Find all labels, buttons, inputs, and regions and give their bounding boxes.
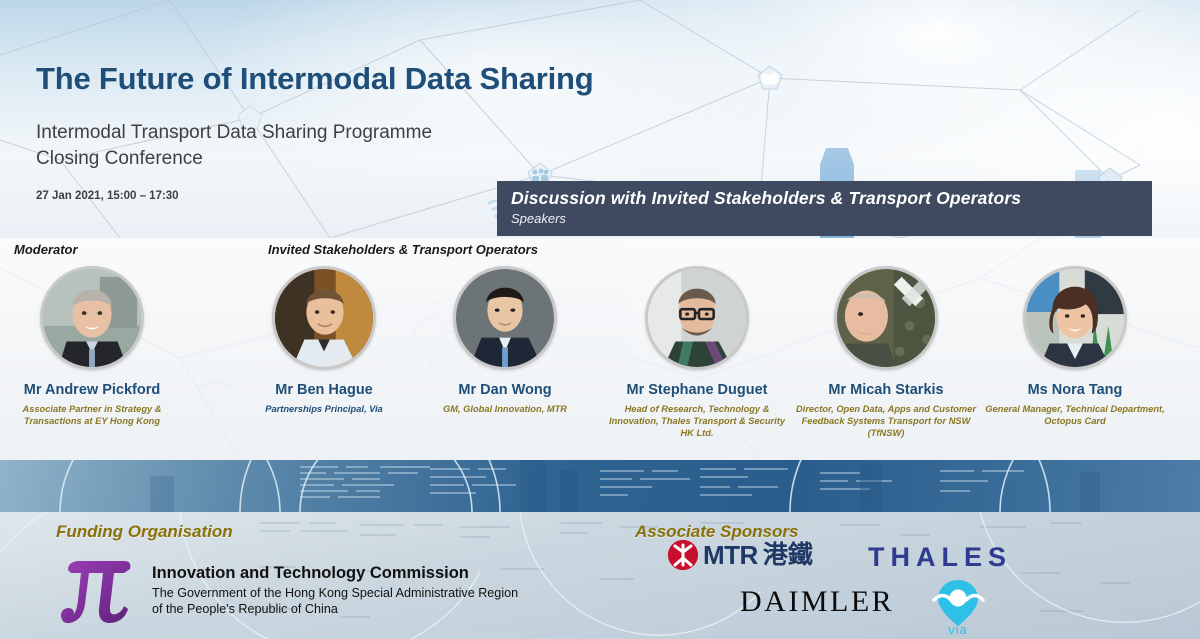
associate-sponsors-label: Associate Sponsors [635, 522, 798, 542]
speaker-card-ben-hague: Mr Ben Hague Partnerships Principal, Via [224, 266, 424, 415]
sponsors-section: Funding Organisation Associate Sponsors [0, 512, 1200, 639]
speaker-role: GM, Global Innovation, MTR [405, 403, 605, 415]
itc-pi-logo [58, 554, 136, 628]
daimler-wordmark: DAIMLER [740, 587, 894, 617]
speaker-name: Mr Stephane Duguet [597, 382, 797, 399]
itc-logo-block: Innovation and Technology Commission The… [58, 554, 518, 628]
category-label-moderator: Moderator [14, 242, 78, 257]
mtr-badge-icon [668, 540, 698, 570]
subtitle-line-2: Closing Conference [36, 146, 594, 172]
avatar [40, 266, 144, 370]
itc-text-block: Innovation and Technology Commission The… [152, 564, 518, 617]
avatar [453, 266, 557, 370]
presentation-slide: The Future of Intermodal Data Sharing In… [0, 0, 1200, 639]
speaker-card-nora-tang: Ms Nora Tang General Manager, Technical … [975, 266, 1175, 427]
subtitle-line-1: Intermodal Transport Data Sharing Progra… [36, 120, 594, 146]
speaker-name: Ms Nora Tang [975, 382, 1175, 399]
speaker-card-stephane-duguet: Mr Stephane Duguet Head of Research, Tec… [597, 266, 797, 439]
mtr-wordmark: MTR [703, 542, 758, 568]
speaker-card-andrew-pickford: Mr Andrew Pickford Associate Partner in … [0, 266, 192, 427]
speaker-name: Mr Ben Hague [224, 382, 424, 399]
arc-overlay [0, 460, 1200, 512]
portrait-stephane-duguet [648, 269, 746, 367]
mtr-chinese-name: 港鐵 [763, 543, 813, 568]
portrait-andrew-pickford [43, 269, 141, 367]
speaker-role: Partnerships Principal, Via [224, 403, 424, 415]
thales-logo: THALES [868, 544, 1012, 571]
section-banner: Discussion with Invited Stakeholders & T… [497, 181, 1152, 236]
itc-gov-line2: of the People's Republic of China [152, 601, 518, 617]
city-data-band [0, 460, 1200, 512]
speaker-role: General Manager, Technical Department, O… [975, 403, 1175, 428]
avatar [272, 266, 376, 370]
speaker-name: Mr Dan Wong [405, 382, 605, 399]
mtr-logo: MTR 港鐵 [668, 540, 813, 570]
portrait-dan-wong [456, 269, 554, 367]
speaker-role: Associate Partner in Strategy & Transact… [0, 403, 192, 428]
itc-gov-line1: The Government of the Hong Kong Special … [152, 585, 518, 601]
banner-title: Discussion with Invited Stakeholders & T… [511, 188, 1152, 209]
page-subtitle: Intermodal Transport Data Sharing Progra… [36, 120, 594, 172]
via-logo: via [930, 578, 986, 636]
daimler-logo: DAIMLER [740, 587, 894, 617]
portrait-nora-tang [1026, 269, 1124, 367]
speaker-card-dan-wong: Mr Dan Wong GM, Global Innovation, MTR [405, 266, 605, 415]
portrait-ben-hague [275, 269, 373, 367]
via-pin-icon [930, 578, 986, 628]
page-title: The Future of Intermodal Data Sharing [36, 62, 594, 96]
speaker-role: Director, Open Data, Apps and Customer F… [786, 403, 986, 440]
thales-wordmark: THALES [868, 544, 1012, 571]
speaker-name: Mr Andrew Pickford [0, 382, 192, 399]
speaker-role: Head of Research, Technology & Innovatio… [597, 403, 797, 440]
portrait-micah-starkis [837, 269, 935, 367]
funding-organisation-label: Funding Organisation [56, 522, 233, 542]
speakers-section: Moderator Invited Stakeholders & Transpo… [0, 238, 1200, 460]
banner-subtitle: Speakers [511, 211, 1152, 226]
speaker-card-micah-starkis: Mr Micah Starkis Director, Open Data, Ap… [786, 266, 986, 439]
category-label-invited: Invited Stakeholders & Transport Operato… [268, 242, 538, 257]
speaker-name: Mr Micah Starkis [786, 382, 986, 399]
avatar [834, 266, 938, 370]
avatar [1023, 266, 1127, 370]
avatar [645, 266, 749, 370]
via-wordmark: via [930, 622, 986, 637]
itc-name: Innovation and Technology Commission [152, 564, 518, 584]
